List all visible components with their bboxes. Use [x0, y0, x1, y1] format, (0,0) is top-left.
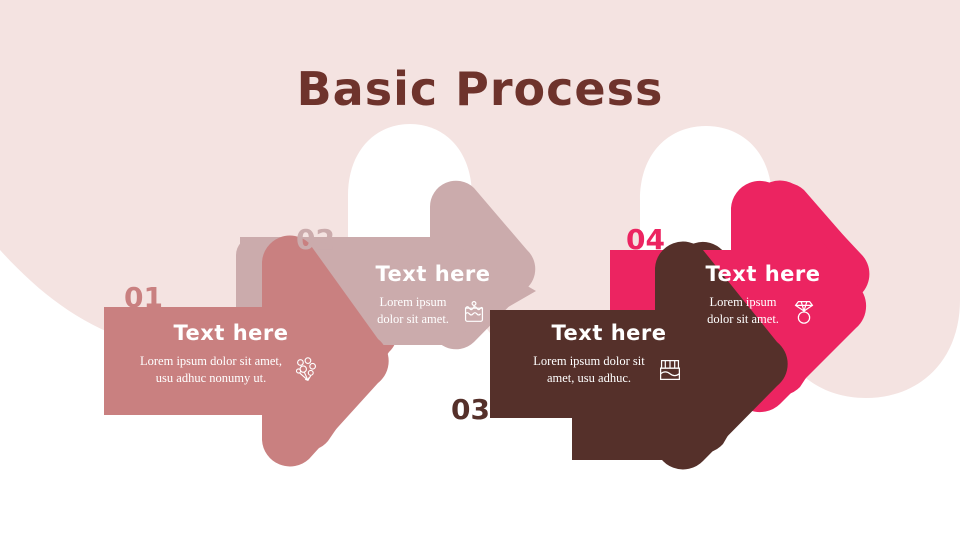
step-number-2: 02	[296, 226, 335, 254]
step-content-3: Text here Lorem ipsum dolor sit amet, us…	[506, 322, 712, 387]
page-title: Basic Process	[0, 62, 960, 116]
step-title-4: Text here	[660, 263, 866, 286]
step-number-4: 04	[626, 226, 665, 254]
step-description-4: Lorem ipsum dolor sit amet.	[707, 294, 779, 328]
step-content-4: Text here Lorem ipsum dolor sit amet.	[660, 263, 866, 328]
step-description-2: Lorem ipsum dolor sit amet.	[377, 294, 449, 328]
flower-bouquet-icon	[292, 355, 322, 385]
step-content-1: Text here Lorem ipsum dolor sit amet, us…	[106, 322, 356, 387]
step-description-3: Lorem ipsum dolor sit amet, usu adhuc.	[533, 353, 644, 387]
cake-icon	[459, 296, 489, 326]
diamond-ring-icon	[789, 296, 819, 326]
step-number-1: 01	[124, 284, 163, 312]
step-number-3: 03	[451, 396, 490, 424]
step-content-2: Text here Lorem ipsum dolor sit amet.	[330, 263, 536, 328]
step-title-2: Text here	[330, 263, 536, 286]
step-description-1: Lorem ipsum dolor sit amet, usu adhuc no…	[140, 353, 282, 387]
chocolate-box-icon	[655, 355, 685, 385]
step-title-1: Text here	[106, 322, 356, 345]
slide-canvas: Basic Process	[0, 0, 960, 540]
